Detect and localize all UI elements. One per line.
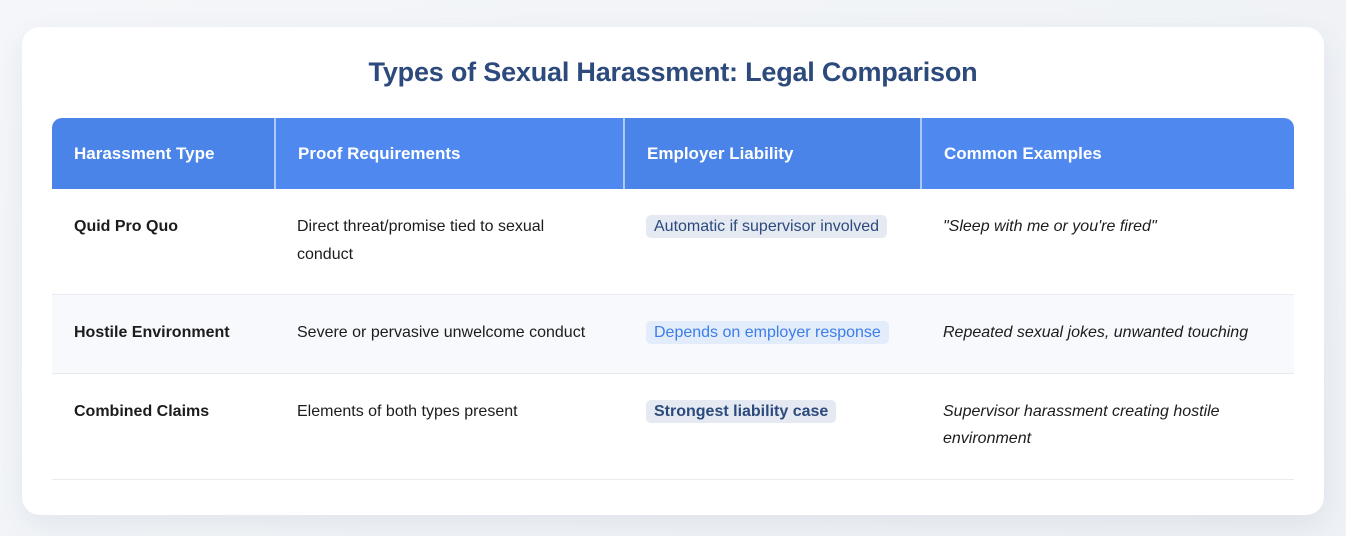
column-header-proof-requirements[interactable]: Proof Requirements (275, 118, 624, 189)
column-header-common-examples[interactable]: Common Examples (921, 118, 1294, 189)
table-row: Combined Claims Elements of both types p… (52, 373, 1294, 479)
comparison-card: Types of Sexual Harassment: Legal Compar… (22, 27, 1324, 515)
column-header-employer-liability[interactable]: Employer Liability (624, 118, 921, 189)
cell-proof-requirements: Elements of both types present (275, 373, 624, 479)
table-row: Hostile Environment Severe or pervasive … (52, 295, 1294, 374)
cell-common-examples: Repeated sexual jokes, unwanted touching (921, 295, 1294, 374)
cell-harassment-type: Quid Pro Quo (52, 189, 275, 295)
cell-common-examples: "Sleep with me or you're fired" (921, 189, 1294, 295)
cell-harassment-type: Hostile Environment (52, 295, 275, 374)
table-header: Harassment Type Proof Requirements Emplo… (52, 118, 1294, 189)
table-body: Quid Pro Quo Direct threat/promise tied … (52, 189, 1294, 479)
column-header-harassment-type[interactable]: Harassment Type (52, 118, 275, 189)
table-row: Quid Pro Quo Direct threat/promise tied … (52, 189, 1294, 295)
table-header-row: Harassment Type Proof Requirements Emplo… (52, 118, 1294, 189)
liability-badge: Automatic if supervisor involved (646, 215, 887, 238)
cell-employer-liability: Automatic if supervisor involved (624, 189, 921, 295)
liability-badge: Depends on employer response (646, 321, 889, 344)
liability-badge: Strongest liability case (646, 400, 836, 423)
cell-harassment-type: Combined Claims (52, 373, 275, 479)
cell-proof-requirements: Severe or pervasive unwelcome conduct (275, 295, 624, 374)
cell-proof-requirements: Direct threat/promise tied to sexual con… (275, 189, 624, 295)
cell-employer-liability: Strongest liability case (624, 373, 921, 479)
cell-employer-liability: Depends on employer response (624, 295, 921, 374)
cell-common-examples: Supervisor harassment creating hostile e… (921, 373, 1294, 479)
comparison-table-wrapper: Harassment Type Proof Requirements Emplo… (52, 118, 1294, 480)
harassment-comparison-table: Harassment Type Proof Requirements Emplo… (52, 118, 1294, 480)
page-title: Types of Sexual Harassment: Legal Compar… (22, 57, 1324, 88)
